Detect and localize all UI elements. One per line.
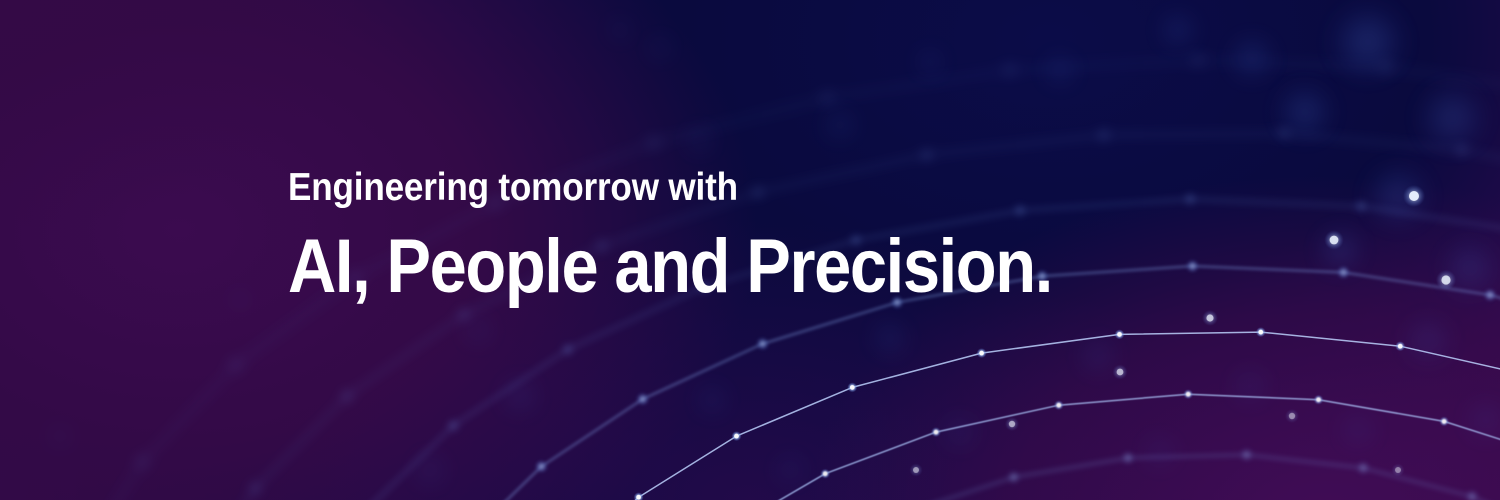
bokeh-dot — [1140, 432, 1180, 472]
arc-node — [1008, 471, 1020, 483]
bokeh-dot — [1416, 82, 1488, 154]
bokeh-dot — [822, 107, 858, 143]
arc-node-core — [636, 495, 641, 500]
arc-node-core — [823, 472, 827, 476]
bokeh-dot — [870, 318, 910, 358]
headline-block: Engineering tomorrow with AI, People and… — [288, 168, 1156, 305]
arc-node-core — [734, 434, 739, 439]
arc-node — [456, 307, 471, 322]
arc-node-core — [1057, 403, 1061, 407]
arc-node — [1097, 128, 1112, 143]
bokeh-dot — [941, 413, 979, 451]
bokeh-dot — [684, 124, 716, 156]
arc-node — [561, 343, 575, 357]
sparkle-node — [1330, 236, 1339, 245]
arc-node — [1484, 289, 1497, 302]
sparkle-node — [1441, 275, 1450, 284]
arc-node-core — [850, 385, 855, 390]
arc-node — [819, 90, 834, 105]
arc-node — [535, 460, 548, 473]
arc-node-core — [1117, 332, 1122, 337]
arc-node — [1277, 126, 1292, 141]
bokeh-dot — [646, 34, 674, 62]
arc-node — [1337, 266, 1350, 279]
sparkle-node — [913, 467, 919, 473]
arc-node — [1379, 60, 1394, 75]
arc-node-core — [1259, 330, 1264, 335]
bokeh-dot — [1401, 313, 1455, 367]
arc-node — [919, 148, 934, 163]
bokeh-dot — [1229, 365, 1271, 407]
bokeh-dot — [773, 453, 807, 487]
bokeh-dot — [410, 450, 450, 490]
arc-node-core — [1316, 398, 1320, 402]
bokeh-dot — [1336, 408, 1380, 452]
sparkle-node — [1395, 467, 1401, 473]
sparkle-node — [1206, 314, 1213, 321]
sparkle-node — [1009, 421, 1015, 427]
bokeh-dot — [1228, 34, 1276, 82]
arc-node — [228, 357, 243, 372]
arc-node — [1002, 62, 1017, 77]
bokeh-dot — [694, 382, 730, 418]
hero-banner: Engineering tomorrow with AI, People and… — [0, 0, 1500, 500]
bokeh-dot — [915, 47, 945, 77]
arc-node — [248, 481, 263, 496]
bokeh-dot — [1158, 10, 1198, 50]
bokeh-dot — [226, 286, 254, 314]
arc-node — [1241, 449, 1253, 461]
arc-node — [1186, 260, 1199, 273]
sparkle-node — [1289, 413, 1295, 419]
bokeh-dot — [1043, 53, 1077, 87]
arc-node — [447, 419, 461, 433]
arc-node — [340, 389, 355, 404]
arc-node-core — [1442, 419, 1446, 423]
arc-node — [1466, 491, 1478, 500]
arc-node-core — [934, 430, 938, 434]
bokeh-dot — [607, 17, 633, 43]
arc-node — [756, 337, 769, 350]
page-title: AI, People and Precision. — [288, 229, 1052, 305]
arc-node — [1122, 452, 1134, 464]
arc-node — [636, 393, 649, 406]
arc-node — [1190, 52, 1205, 67]
sparkle-node — [1117, 369, 1124, 376]
arc-node — [1357, 462, 1369, 474]
arc-node — [1455, 143, 1470, 158]
arc-node-core — [979, 351, 984, 356]
bokeh-dot — [44, 420, 76, 452]
arc-node — [134, 455, 149, 470]
arc-node-core — [1186, 392, 1190, 396]
arc-node — [1183, 192, 1197, 206]
eyebrow-text: Engineering tomorrow with — [288, 168, 1069, 207]
arc-node — [646, 135, 661, 150]
sparkle-node — [1409, 191, 1419, 201]
arc-node-core — [1398, 344, 1403, 349]
arc-node — [1354, 200, 1368, 214]
